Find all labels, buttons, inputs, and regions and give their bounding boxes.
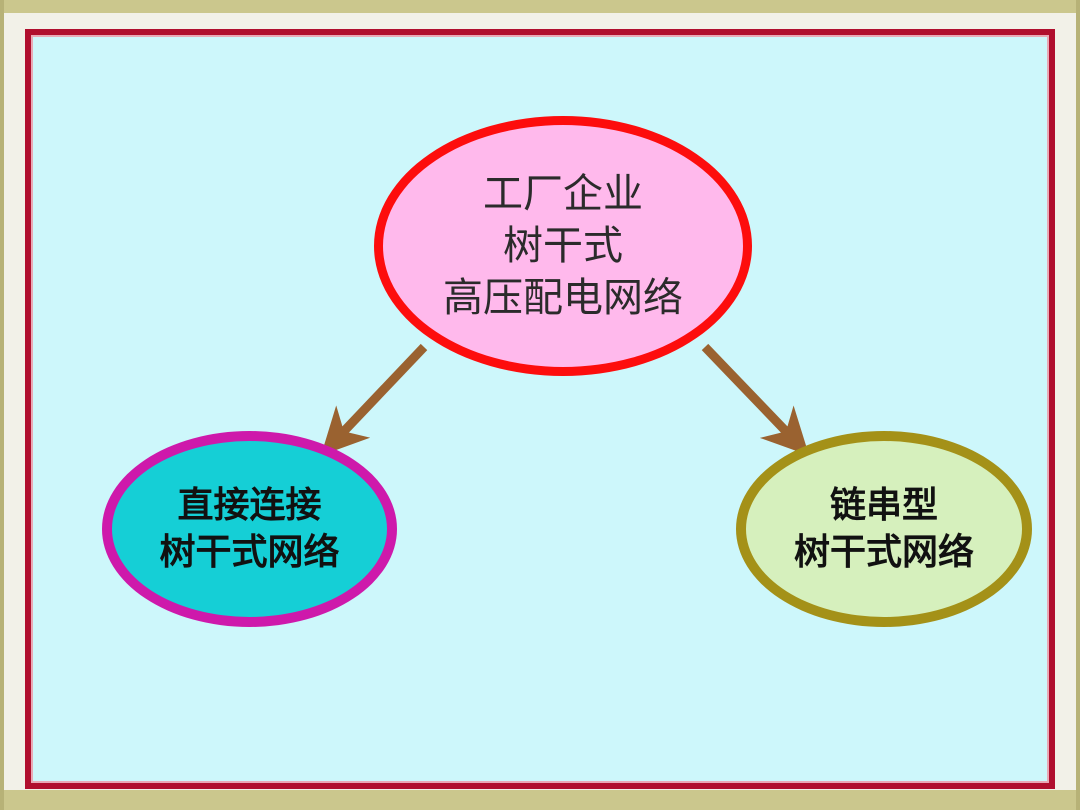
frame-edge-right bbox=[1076, 0, 1080, 810]
node-chain-line-2: 树干式网络 bbox=[794, 529, 974, 576]
node-chain-line-1: 链串型 bbox=[830, 482, 938, 529]
slide-canvas: 工厂企业 树干式 高压配电网络 直接连接 树干式网络 链串型 树干式网络 bbox=[0, 0, 1080, 810]
node-root-factory-trunk-hv-network[interactable]: 工厂企业 树干式 高压配电网络 bbox=[374, 116, 752, 376]
node-direct-line-1: 直接连接 bbox=[177, 482, 321, 529]
node-direct-connection-trunk-network[interactable]: 直接连接 树干式网络 bbox=[102, 431, 397, 627]
node-root-line-1: 工厂企业 bbox=[483, 168, 643, 220]
node-root-line-3: 高压配电网络 bbox=[443, 272, 683, 324]
frame-edge-left bbox=[0, 0, 4, 810]
slide-red-border: 工厂企业 树干式 高压配电网络 直接连接 树干式网络 链串型 树干式网络 bbox=[25, 29, 1055, 789]
frame-band-top bbox=[0, 0, 1080, 13]
node-direct-line-2: 树干式网络 bbox=[159, 529, 339, 576]
node-chain-type-trunk-network[interactable]: 链串型 树干式网络 bbox=[736, 431, 1032, 627]
connector-root-to-chain bbox=[705, 347, 801, 447]
diagram-area: 工厂企业 树干式 高压配电网络 直接连接 树干式网络 链串型 树干式网络 bbox=[31, 35, 1061, 795]
node-root-line-2: 树干式 bbox=[503, 220, 623, 272]
connector-root-to-direct bbox=[329, 347, 424, 447]
